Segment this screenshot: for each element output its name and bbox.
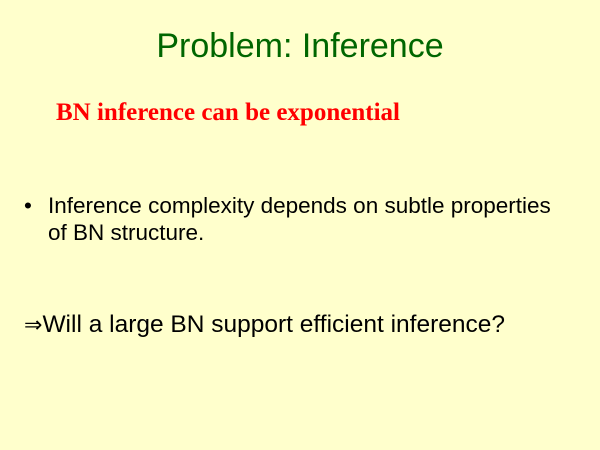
bullet-marker-icon: •	[24, 192, 48, 219]
list-item: • Inference complexity depends on subtle…	[24, 192, 564, 246]
page-title: Problem: Inference	[0, 26, 600, 66]
slide-subtitle: BN inference can be exponential	[56, 98, 400, 128]
presentation-slide: Problem: Inference BN inference can be e…	[0, 0, 600, 450]
conclusion-text: Will a large BN support efficient infere…	[42, 311, 505, 338]
bullet-list: • Inference complexity depends on subtle…	[24, 192, 564, 246]
conclusion-line: ⇒Will a large BN support efficient infer…	[24, 310, 584, 341]
double-right-arrow-icon: ⇒	[24, 313, 42, 338]
bullet-item-text: Inference complexity depends on subtle p…	[48, 192, 564, 246]
